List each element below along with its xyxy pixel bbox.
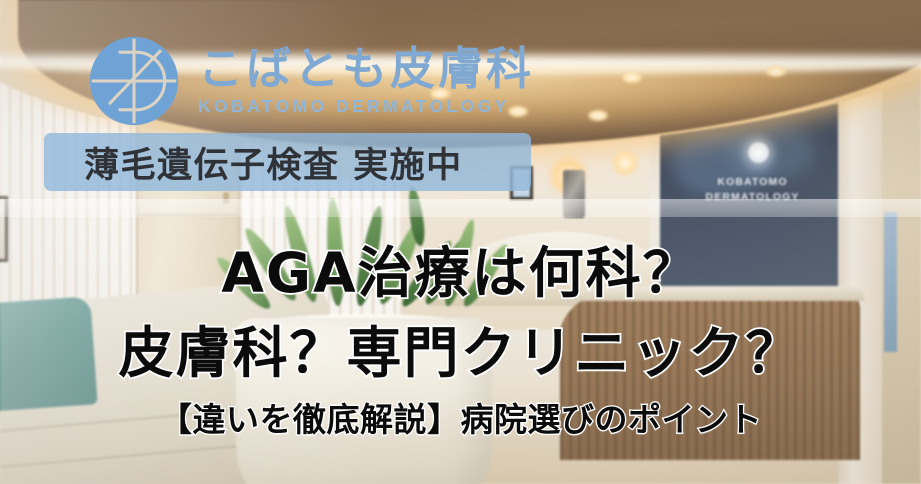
kobatomo-logo-icon: [86, 33, 182, 129]
clinic-name-en: KOBATOMO DERMATOLOGY: [198, 96, 534, 117]
campaign-banner: 薄毛遺伝子検査 実施中: [44, 133, 531, 191]
headline-line-1: AGA治療は何科？: [0, 228, 921, 308]
clinic-name-jp: こばとも皮膚科: [198, 45, 534, 92]
thumbnail-canvas: KOBATOMO DERMATOLOGY: [0, 0, 921, 484]
headline-line-3: 【違いを徹底解説】病院選びのポイント: [0, 393, 921, 441]
campaign-banner-text: 薄毛遺伝子検査 実施中: [84, 137, 463, 188]
headline-line-2: 皮膚科？専門クリニック？: [0, 308, 921, 388]
clinic-logo: こばとも皮膚科 KOBATOMO DERMATOLOGY: [86, 33, 534, 129]
